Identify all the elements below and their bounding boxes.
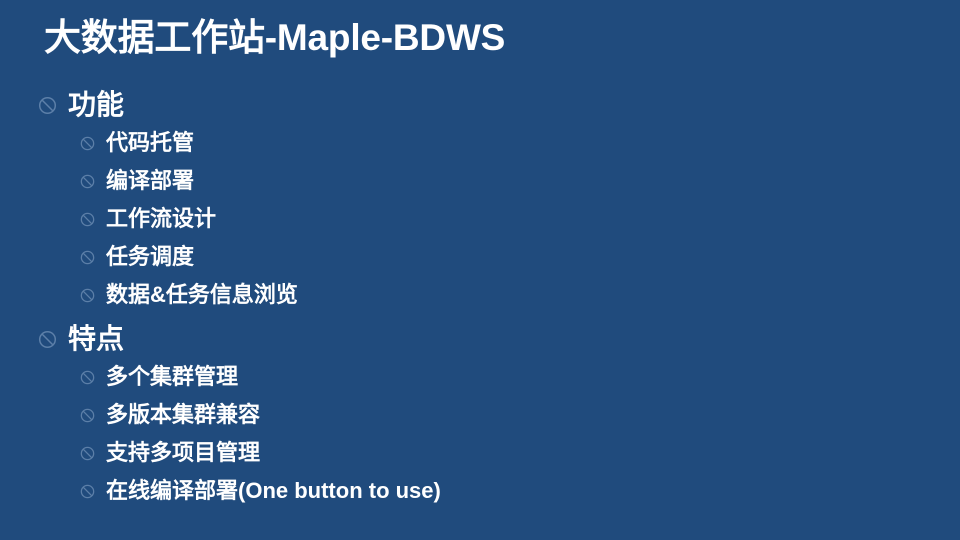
outline-level2-label: 代码托管: [106, 132, 194, 154]
outline-level1-label: 特点: [68, 325, 124, 353]
prohibition-circle-icon: [80, 370, 95, 385]
outline-level2-item[interactable]: 支持多项目管理: [0, 434, 960, 472]
prohibition-circle-icon: [80, 250, 95, 265]
outline-level2-label: 在线编译部署(One button to use): [106, 480, 441, 502]
outline-level1-label: 功能: [68, 91, 124, 119]
outline-level2-item[interactable]: 编译部署: [0, 162, 960, 200]
prohibition-circle-icon: [80, 408, 95, 423]
page-title: 大数据工作站-Maple-BDWS: [44, 17, 505, 60]
outline-level2-label: 支持多项目管理: [106, 442, 260, 464]
outline-level2-item[interactable]: 多版本集群兼容: [0, 396, 960, 434]
prohibition-circle-icon: [80, 212, 95, 227]
outline-level1-item[interactable]: 特点: [0, 320, 960, 358]
outline-level2-label: 多个集群管理: [106, 366, 238, 388]
prohibition-circle-icon: [80, 446, 95, 461]
outline-level2-item[interactable]: 数据&任务信息浏览: [0, 276, 960, 314]
prohibition-circle-icon: [80, 484, 95, 499]
outline-level2-label: 任务调度: [106, 246, 194, 268]
content-outline: 功能 代码托管 编译部署: [0, 86, 960, 510]
outline-level1-item[interactable]: 功能: [0, 86, 960, 124]
outline-level2-item[interactable]: 代码托管: [0, 124, 960, 162]
outline-level2-label: 多版本集群兼容: [106, 404, 260, 426]
outline-level2-item[interactable]: 工作流设计: [0, 200, 960, 238]
presentation-slide: 大数据工作站-Maple-BDWS 功能: [0, 0, 960, 540]
outline-level2-label: 编译部署: [106, 170, 194, 192]
outline-level2-item[interactable]: 在线编译部署(One button to use): [0, 472, 960, 510]
outline-level2-item[interactable]: 任务调度: [0, 238, 960, 276]
prohibition-circle-icon: [38, 330, 57, 349]
prohibition-circle-icon: [38, 96, 57, 115]
outline-section: 功能 代码托管 编译部署: [0, 86, 960, 314]
outline-level2-label: 工作流设计: [106, 208, 216, 230]
prohibition-circle-icon: [80, 174, 95, 189]
outline-level2-label: 数据&任务信息浏览: [106, 284, 298, 306]
outline-level2-item[interactable]: 多个集群管理: [0, 358, 960, 396]
prohibition-circle-icon: [80, 136, 95, 151]
outline-section: 特点 多个集群管理 多版本集群兼容: [0, 320, 960, 510]
prohibition-circle-icon: [80, 288, 95, 303]
